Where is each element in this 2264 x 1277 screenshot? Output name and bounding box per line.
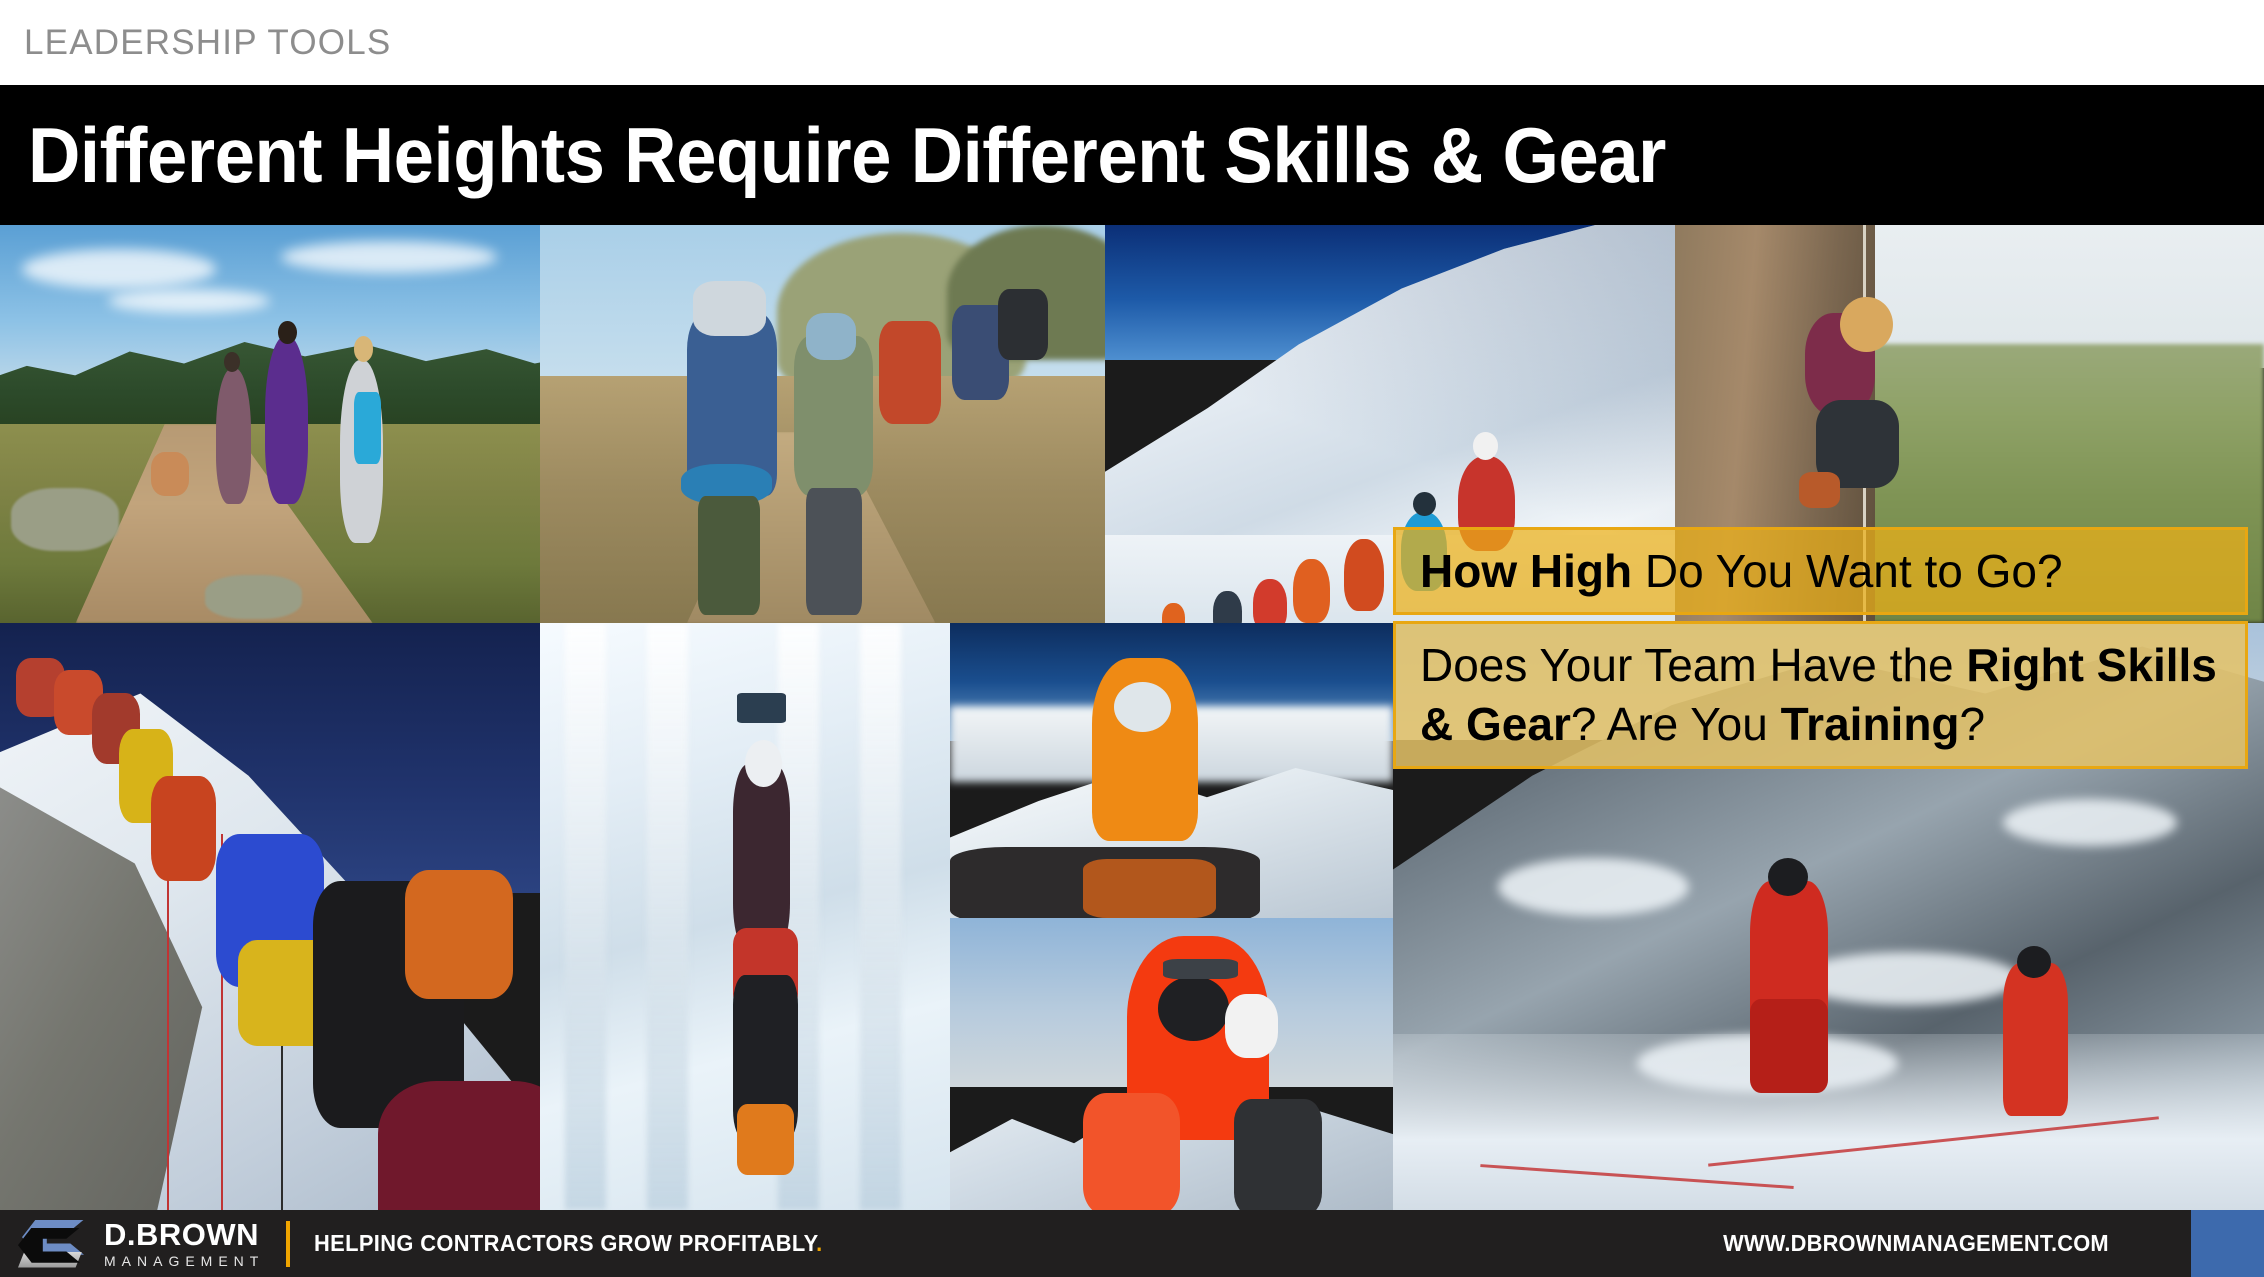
footer-website[interactable]: WWW.DBROWNMANAGEMENT.COM bbox=[1723, 1230, 2109, 1257]
callout-seg-5: ? bbox=[1960, 698, 1986, 750]
photo-backpackers-with-packs bbox=[540, 225, 1105, 623]
dbrown-logo-icon bbox=[18, 1218, 90, 1270]
callout-seg-4-bold: Training bbox=[1781, 698, 1960, 750]
photo-climber-in-orange-down-suit bbox=[950, 623, 1393, 918]
eyebrow-label: LEADERSHIP TOOLS bbox=[24, 23, 391, 63]
footer-blue-tab bbox=[2191, 1210, 2264, 1277]
footer-bar: D.BROWN MANAGEMENT HELPING CONTRACTORS G… bbox=[0, 1210, 2264, 1277]
callout-how-high-bold: How High bbox=[1420, 545, 1632, 597]
footer-tagline-dot: . bbox=[816, 1230, 822, 1256]
callout-skills-gear: Does Your Team Have the Right Skills & G… bbox=[1393, 621, 2248, 769]
slide-title: Different Heights Require Different Skil… bbox=[28, 110, 1666, 201]
callout-seg-3: ? Are You bbox=[1571, 698, 1781, 750]
callout-seg-1: Does Your Team Have the bbox=[1420, 639, 1966, 691]
photo-summit-queue-fixed-lines bbox=[0, 623, 540, 1210]
logo-wordmark: D.BROWN MANAGEMENT bbox=[104, 1219, 264, 1268]
logo-subtitle: MANAGEMENT bbox=[104, 1254, 264, 1268]
title-bar: Different Heights Require Different Skil… bbox=[0, 85, 2264, 225]
photo-climber-in-red-suit-oxygen bbox=[950, 918, 1393, 1210]
footer-tagline: HELPING CONTRACTORS GROW PROFITABLY. bbox=[314, 1230, 823, 1257]
callout-how-high-text: How High Do You Want to Go? bbox=[1420, 542, 2063, 601]
photo-ice-climber-with-axes bbox=[540, 623, 950, 1210]
callout-skills-gear-text: Does Your Team Have the Right Skills & G… bbox=[1420, 636, 2221, 754]
photo-day-hikers-on-trail bbox=[0, 225, 540, 623]
callout-how-high-rest: Do You Want to Go? bbox=[1632, 545, 2062, 597]
footer-divider bbox=[286, 1221, 290, 1267]
footer-tagline-text: HELPING CONTRACTORS GROW PROFITABLY bbox=[314, 1230, 816, 1256]
slide-canvas: LEADERSHIP TOOLS Different Heights Requi… bbox=[0, 0, 2264, 1277]
logo-name: D.BROWN bbox=[104, 1219, 264, 1250]
callout-how-high: How High Do You Want to Go? bbox=[1393, 527, 2248, 615]
eyebrow-bar: LEADERSHIP TOOLS bbox=[0, 0, 2264, 85]
